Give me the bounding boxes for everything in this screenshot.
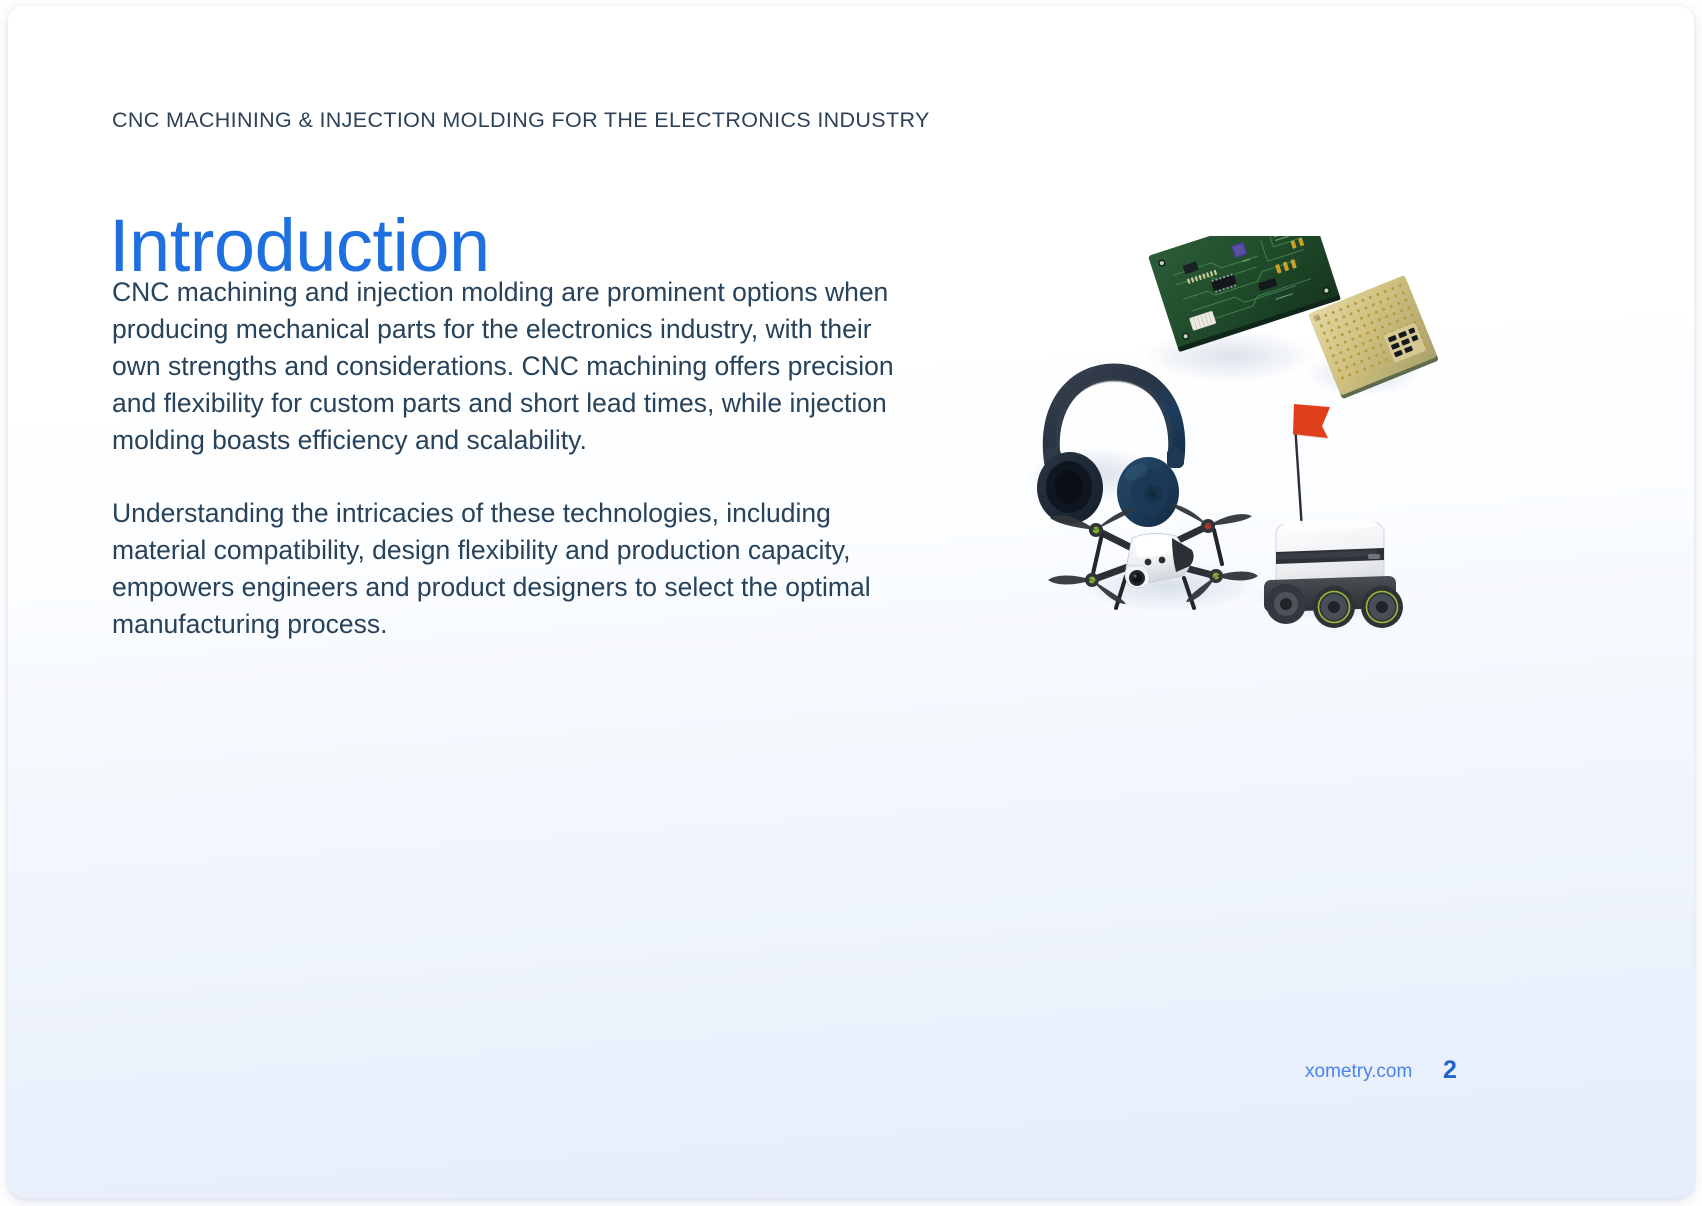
paragraph-1: CNC machining and injection molding are … — [112, 274, 924, 459]
delivery-robot-icon — [1264, 404, 1403, 628]
slide-canvas: CNC MACHINING & INJECTION MOLDING FOR TH… — [8, 6, 1694, 1198]
body-copy: CNC machining and injection molding are … — [112, 274, 924, 643]
paragraph-2: Understanding the intricacies of these t… — [112, 495, 924, 643]
footer-page-number: 2 — [1443, 1056, 1457, 1085]
shadow-pcb — [1144, 330, 1316, 382]
footer-website-link[interactable]: xometry.com — [1305, 1061, 1412, 1083]
electronics-illustration — [1008, 236, 1478, 636]
slide-eyebrow: CNC MACHINING & INJECTION MOLDING FOR TH… — [112, 108, 930, 133]
